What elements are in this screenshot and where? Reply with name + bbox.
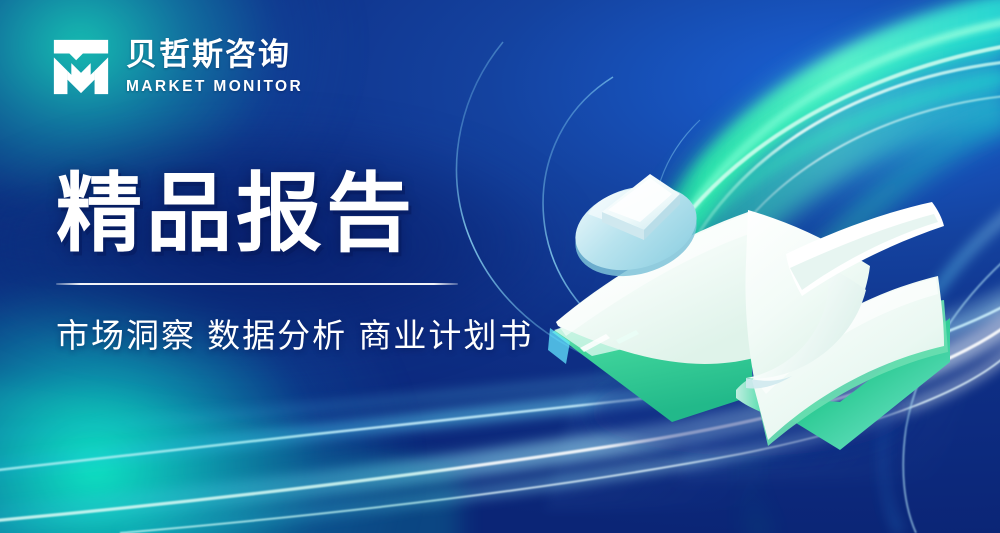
- brand-logo-text: 贝哲斯咨询 MARKET MONITOR: [126, 38, 303, 96]
- hero-text-block: 精品报告 市场洞察 数据分析 商业计划书: [56, 168, 526, 357]
- hero-subtitle: 市场洞察 数据分析 商业计划书: [56, 309, 526, 357]
- brand-name-en: MARKET MONITOR: [126, 78, 303, 96]
- open-book-illustration: [540, 150, 960, 470]
- title-divider: [56, 283, 458, 285]
- page-title: 精品报告: [56, 168, 526, 261]
- brand-name-cn: 贝哲斯咨询: [126, 38, 303, 73]
- promo-banner: 贝哲斯咨询 MARKET MONITOR 精品报告 市场洞察 数据分析 商业计划…: [0, 0, 1000, 533]
- brand-logo[interactable]: 贝哲斯咨询 MARKET MONITOR: [50, 36, 303, 98]
- market-monitor-m-monogram-icon: [50, 36, 112, 98]
